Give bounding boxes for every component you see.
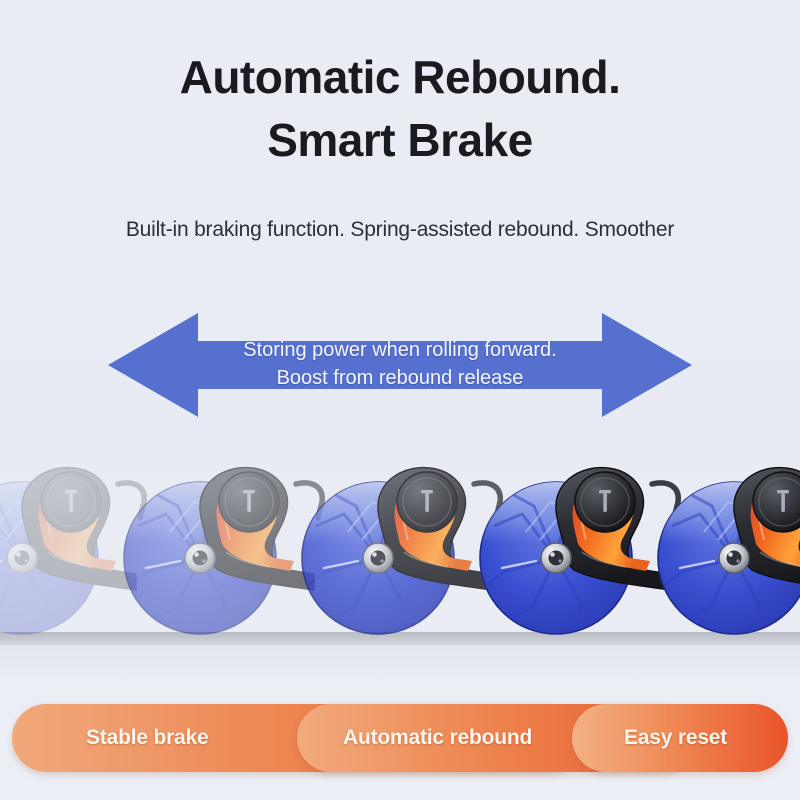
roller-assembly [652, 440, 800, 655]
pivot-cap [575, 472, 635, 532]
headline-line-2: Smart Brake [0, 109, 800, 172]
axle-hub [7, 543, 37, 573]
axle-hub [541, 543, 571, 573]
axle-hub [363, 543, 393, 573]
pivot-cap [41, 472, 101, 532]
product-motion-sequence [0, 440, 800, 690]
pill-easy-reset[interactable]: Easy reset [572, 704, 788, 772]
double-arrow-icon [98, 300, 702, 430]
pill-automatic-rebound-label: Automatic rebound [343, 726, 532, 750]
axle-hub [719, 543, 749, 573]
roller-edge-partial [652, 440, 800, 655]
headline-line-1: Automatic Rebound. [0, 46, 800, 109]
axle-hub [185, 543, 215, 573]
pill-easy-reset-label: Easy reset [624, 726, 727, 750]
subtitle: Built-in braking function. Spring-assist… [0, 218, 800, 242]
feature-pill-bar: Stable brake Automatic rebound Easy rese… [12, 704, 788, 772]
pivot-cap [219, 472, 279, 532]
product-feature-poster: Automatic Rebound. Smart Brake Built-in … [0, 0, 800, 800]
pill-stable-brake-label: Stable brake [86, 726, 209, 750]
page-title: Automatic Rebound. Smart Brake [0, 46, 800, 171]
pivot-cap [397, 472, 457, 532]
double-arrow-banner: Storing power when rolling forward. Boos… [98, 300, 702, 430]
